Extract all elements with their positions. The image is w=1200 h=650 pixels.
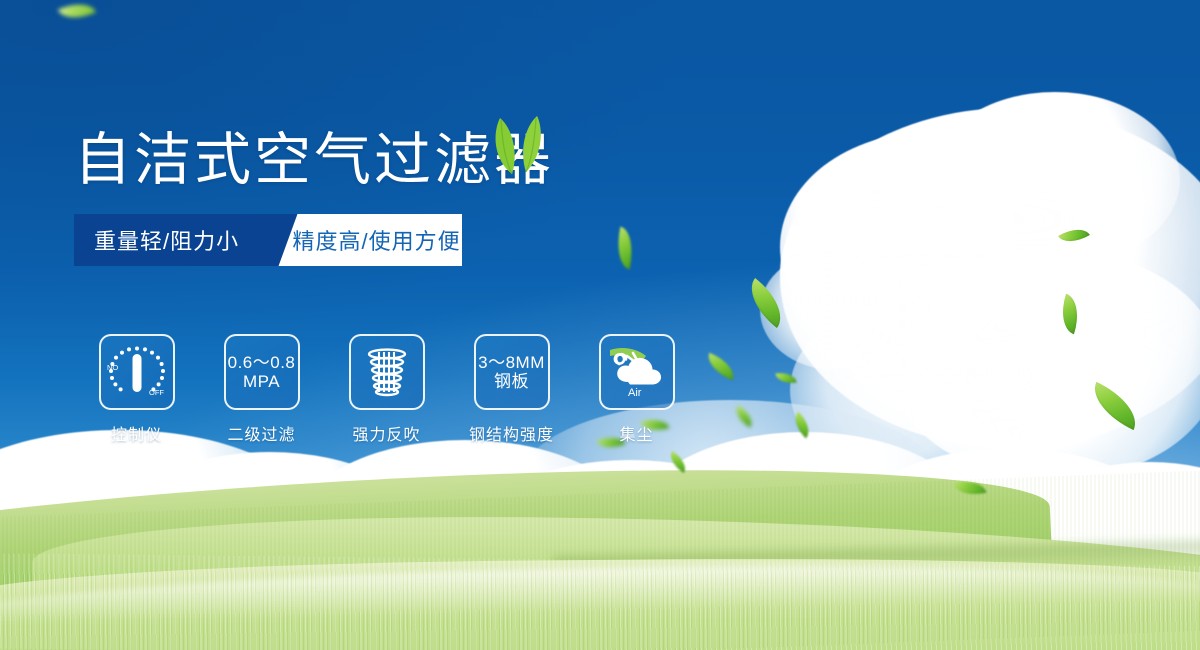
subtitle-right-text: 精度高/使用方便 <box>293 224 461 256</box>
feature-item-backblow[interactable]: 强力反吹 <box>324 334 449 445</box>
steel-thickness: 3～8MM <box>478 353 545 372</box>
subtitle-badge-left: 重量轻/阻力小 <box>74 214 273 266</box>
feature-item-dust[interactable]: Air 集尘 <box>574 334 699 445</box>
feature-label: 集尘 <box>619 421 653 445</box>
feature-box-dust: Air <box>599 334 675 410</box>
air-cloud-icon: Air <box>606 344 668 400</box>
feature-box-control-gauge: NO OFF <box>99 334 175 410</box>
banner-content: 自洁式空气过滤器 重量轻/阻力小 精度高/使用方便 <box>74 130 554 266</box>
sprout-leaves-icon <box>474 112 564 182</box>
air-label: Air <box>628 387 642 399</box>
feature-box-steel: 3～8MM 钢板 <box>474 334 550 410</box>
feature-list: NO OFF 控制仪 0.6～0.8 MPA 二级过滤 <box>74 334 699 445</box>
subtitle-badge: 重量轻/阻力小 精度高/使用方便 <box>74 214 462 266</box>
steel-material: 钢板 <box>494 372 529 391</box>
gauge-right-label: OFF <box>149 388 164 397</box>
feature-item-control-gauge[interactable]: NO OFF 控制仪 <box>74 334 199 445</box>
subtitle-badge-right: 精度高/使用方便 <box>273 214 462 266</box>
pressure-unit: MPA <box>243 372 280 391</box>
gauge-left-label: NO <box>107 363 118 372</box>
product-hero-banner: 自洁式空气过滤器 重量轻/阻力小 精度高/使用方便 <box>0 0 1200 650</box>
feature-label: 二级过滤 <box>227 421 295 445</box>
pressure-value: 0.6～0.8 <box>228 353 296 372</box>
feature-box-pressure: 0.6～0.8 MPA <box>224 334 300 410</box>
feature-label: 强力反吹 <box>352 421 420 445</box>
subtitle-left-text: 重量轻/阻力小 <box>94 224 239 256</box>
feature-item-pressure[interactable]: 0.6～0.8 MPA 二级过滤 <box>199 334 324 445</box>
feature-label: 钢结构强度 <box>469 421 554 445</box>
feature-box-backblow <box>349 334 425 410</box>
feature-item-steel[interactable]: 3～8MM 钢板 钢结构强度 <box>449 334 574 445</box>
filter-coil-icon <box>360 345 414 399</box>
gauge-control-icon: NO OFF <box>106 343 168 401</box>
feature-label: 控制仪 <box>111 421 162 445</box>
